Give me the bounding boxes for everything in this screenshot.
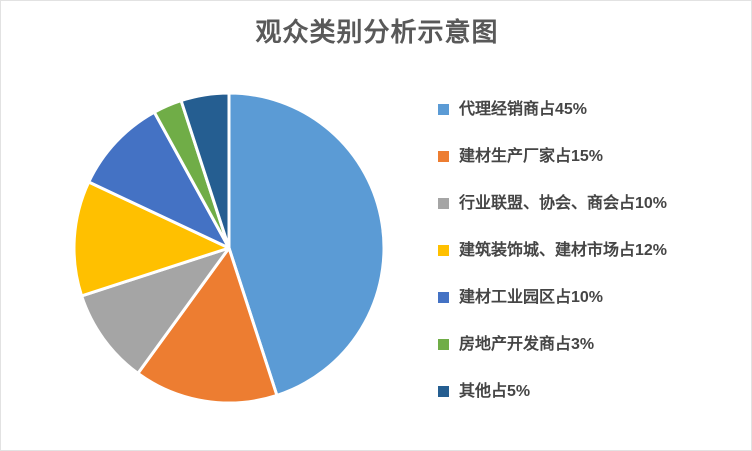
legend-item[interactable]: 房地产开发商占3% bbox=[438, 332, 738, 357]
legend-color-swatch-icon bbox=[438, 198, 449, 209]
legend-item[interactable]: 行业联盟、协会、商会占10% bbox=[438, 191, 738, 216]
pie-chart-container: 观众类别分析示意图 代理经销商占45%建材生产厂家占15%行业联盟、协会、商会占… bbox=[0, 0, 752, 451]
legend-item-label: 其他占5% bbox=[459, 382, 530, 402]
legend-item[interactable]: 建筑装饰城、建材市场占12% bbox=[438, 238, 738, 263]
pie-slice-group bbox=[74, 93, 384, 403]
legend-item[interactable]: 代理经销商占45% bbox=[438, 97, 738, 122]
legend-color-swatch-icon bbox=[438, 386, 449, 397]
legend-item-label: 房地产开发商占3% bbox=[459, 335, 594, 355]
legend-item-label: 建材生产厂家占15% bbox=[459, 147, 603, 167]
legend-item-label: 代理经销商占45% bbox=[459, 100, 587, 120]
legend-item[interactable]: 建材工业园区占10% bbox=[438, 285, 738, 310]
chart-title: 观众类别分析示意图 bbox=[1, 15, 752, 49]
legend-color-swatch-icon bbox=[438, 292, 449, 303]
legend-item-label: 行业联盟、协会、商会占10% bbox=[459, 194, 667, 214]
legend-color-swatch-icon bbox=[438, 151, 449, 162]
legend-item[interactable]: 建材生产厂家占15% bbox=[438, 144, 738, 169]
legend-color-swatch-icon bbox=[438, 339, 449, 350]
legend-item[interactable]: 其他占5% bbox=[438, 379, 738, 404]
legend-item-label: 建筑装饰城、建材市场占12% bbox=[459, 241, 667, 261]
legend-color-swatch-icon bbox=[438, 245, 449, 256]
legend-item-label: 建材工业园区占10% bbox=[459, 288, 603, 308]
pie-plot-area bbox=[73, 92, 385, 404]
pie-svg bbox=[73, 92, 385, 404]
legend-color-swatch-icon bbox=[438, 104, 449, 115]
chart-legend: 代理经销商占45%建材生产厂家占15%行业联盟、协会、商会占10%建筑装饰城、建… bbox=[438, 97, 738, 426]
